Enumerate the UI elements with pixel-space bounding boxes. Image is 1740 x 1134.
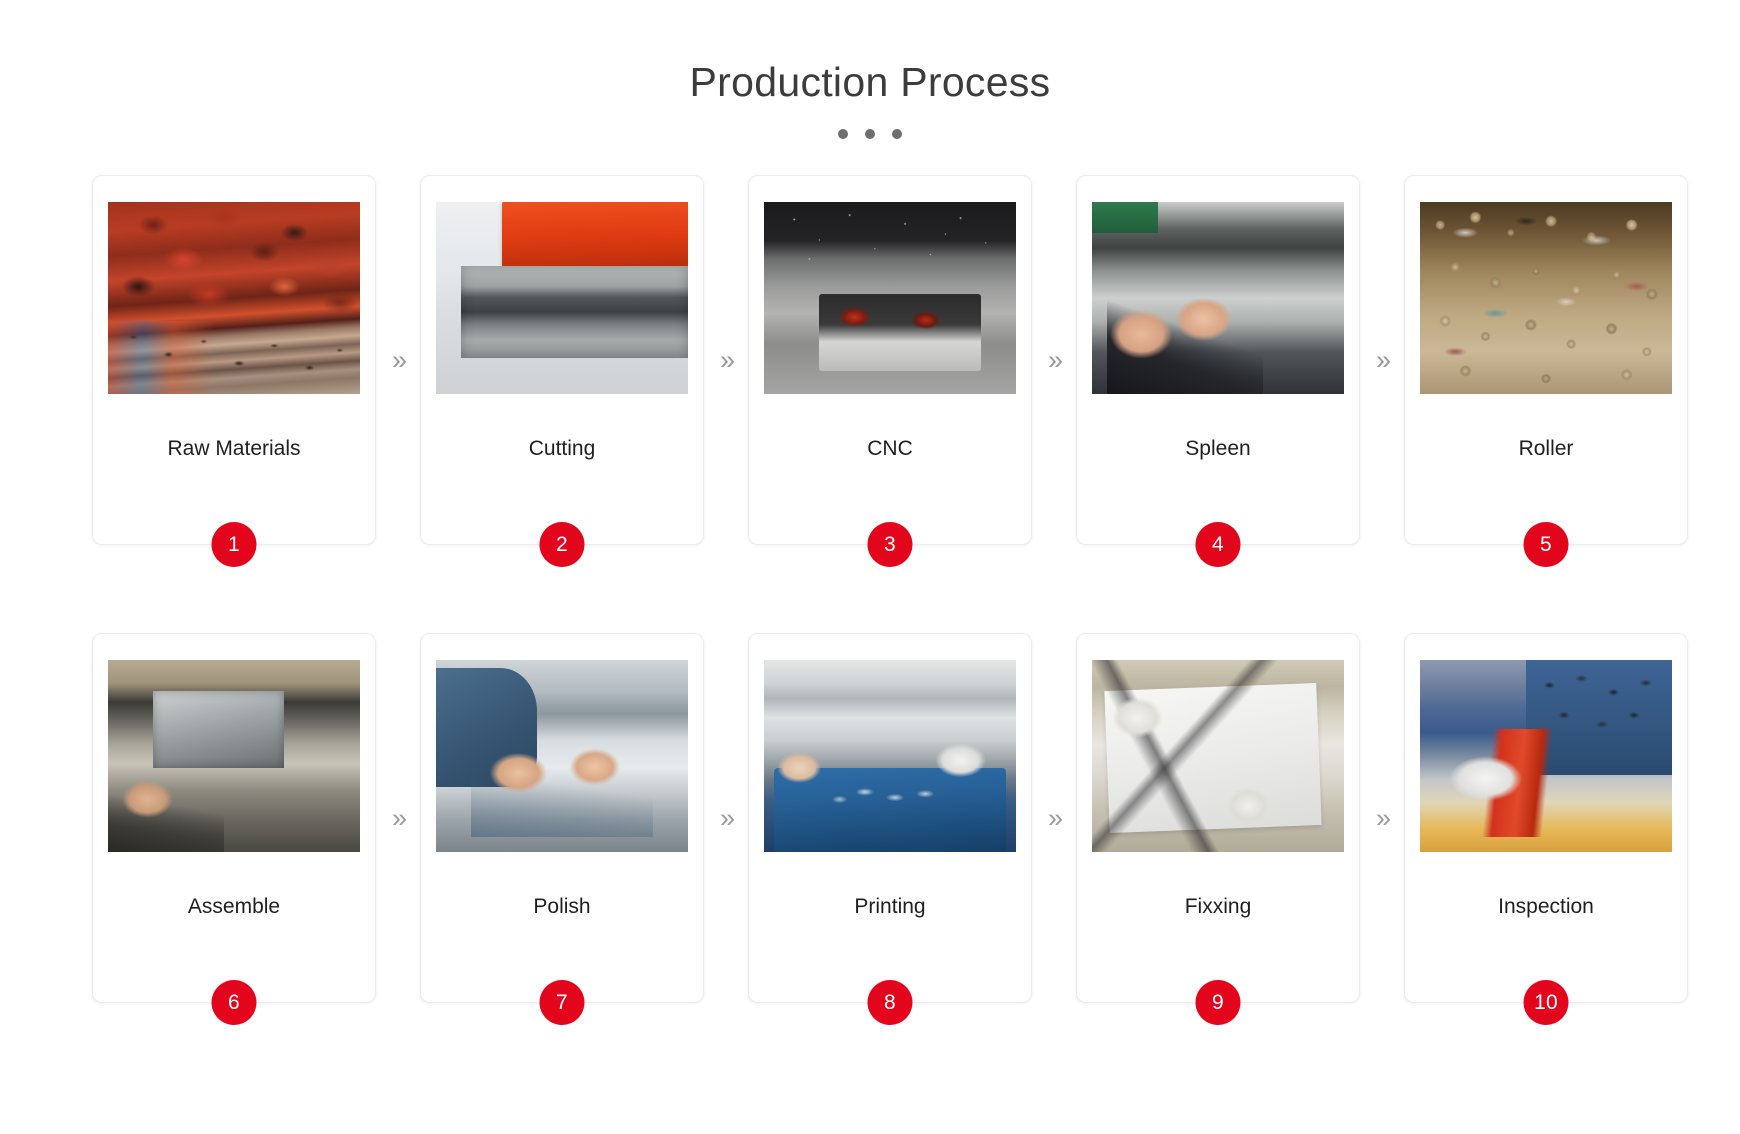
step-number-badge: 2	[540, 522, 585, 567]
step-number-badge: 7	[540, 980, 585, 1025]
step-label: Raw Materials	[93, 436, 375, 461]
step-label: Printing	[749, 894, 1031, 919]
dot-icon	[838, 129, 848, 139]
title-dots-decoration	[0, 129, 1740, 139]
step-arrow-icon: »	[1032, 805, 1076, 832]
process-step-card[interactable]: Printing 8	[748, 633, 1032, 1003]
process-step-card[interactable]: Cutting 2	[420, 175, 704, 545]
step-arrow-icon: »	[1032, 347, 1076, 374]
step-arrow-icon: »	[376, 347, 420, 374]
step-label: Polish	[421, 894, 703, 919]
process-step-card[interactable]: Spleen 4	[1076, 175, 1360, 545]
raw-materials-photo	[108, 202, 360, 394]
process-step-card[interactable]: Polish 7	[420, 633, 704, 1003]
step-number-badge: 10	[1524, 980, 1569, 1025]
fixxing-photo	[1092, 660, 1344, 852]
step-label: CNC	[749, 436, 1031, 461]
step-arrow-icon: »	[1360, 805, 1404, 832]
step-number-badge: 5	[1524, 522, 1569, 567]
step-number-badge: 4	[1196, 522, 1241, 567]
step-label: Fixxing	[1077, 894, 1359, 919]
step-number-badge: 8	[868, 980, 913, 1025]
cnc-photo	[764, 202, 1016, 394]
cutting-photo	[436, 202, 688, 394]
inspection-photo	[1420, 660, 1672, 852]
page-header: Production Process	[0, 58, 1740, 139]
step-number-badge: 6	[212, 980, 257, 1025]
step-label: Roller	[1405, 436, 1687, 461]
process-step-card[interactable]: Roller 5	[1404, 175, 1688, 545]
step-arrow-icon: »	[704, 805, 748, 832]
step-number-badge: 9	[1196, 980, 1241, 1025]
step-number-badge: 1	[212, 522, 257, 567]
process-step-card[interactable]: Inspection 10	[1404, 633, 1688, 1003]
production-process-page: Production Process Raw Materials 1 » Cu	[0, 0, 1740, 1134]
process-step-card[interactable]: Fixxing 9	[1076, 633, 1360, 1003]
assemble-photo	[108, 660, 360, 852]
step-label: Cutting	[421, 436, 703, 461]
process-row: Assemble 6 » Polish 7 » Printing 8 »	[92, 633, 1648, 1003]
dot-icon	[892, 129, 902, 139]
step-label: Inspection	[1405, 894, 1687, 919]
dot-icon	[865, 129, 875, 139]
process-rows: Raw Materials 1 » Cutting 2 » CNC 3 »	[0, 175, 1740, 1003]
process-row: Raw Materials 1 » Cutting 2 » CNC 3 »	[92, 175, 1648, 545]
spleen-photo	[1092, 202, 1344, 394]
step-arrow-icon: »	[1360, 347, 1404, 374]
process-step-card[interactable]: Raw Materials 1	[92, 175, 376, 545]
step-label: Spleen	[1077, 436, 1359, 461]
printing-photo	[764, 660, 1016, 852]
step-number-badge: 3	[868, 522, 913, 567]
step-arrow-icon: »	[704, 347, 748, 374]
polish-photo	[436, 660, 688, 852]
step-label: Assemble	[93, 894, 375, 919]
roller-photo	[1420, 202, 1672, 394]
process-step-card[interactable]: Assemble 6	[92, 633, 376, 1003]
step-arrow-icon: »	[376, 805, 420, 832]
process-step-card[interactable]: CNC 3	[748, 175, 1032, 545]
page-title: Production Process	[0, 58, 1740, 107]
